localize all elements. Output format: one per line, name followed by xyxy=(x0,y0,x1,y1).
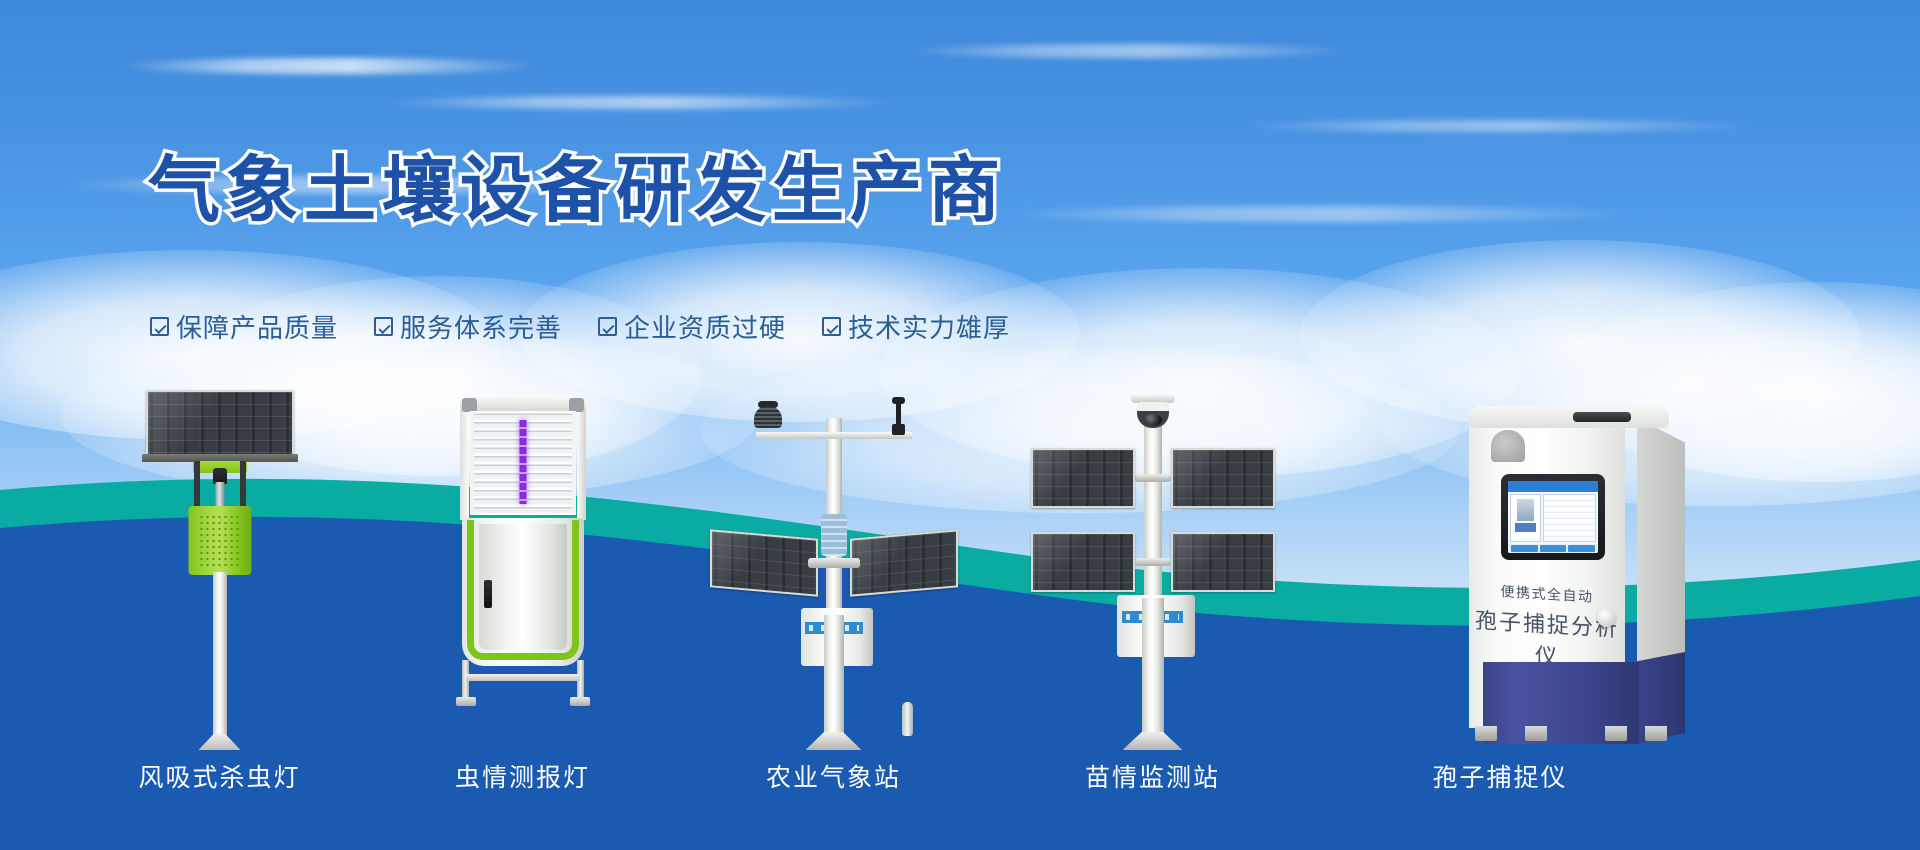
carry-handle[interactable] xyxy=(1573,412,1631,422)
panel-bracket xyxy=(1135,558,1171,566)
feature-item-3: 技术实力雄厚 xyxy=(822,308,1010,345)
checkbox-icon xyxy=(374,317,393,336)
anemometer-icon xyxy=(754,406,782,428)
mast-lower xyxy=(824,615,844,747)
pole-base xyxy=(199,734,241,750)
product-crop-growth-monitoring-station[interactable]: 苗情监测站 xyxy=(1025,390,1280,810)
lcd-content xyxy=(1508,492,1598,544)
checkbox-icon xyxy=(822,317,841,336)
product-label: 风吸式杀虫灯 xyxy=(138,750,300,810)
feature-label: 企业资质过硬 xyxy=(624,308,786,345)
product-spore-capture-instrument[interactable]: 便携式全自动 孢子捕捉分析仪 xyxy=(1290,390,1850,810)
feature-list: 保障产品质量 服务体系完善 企业资质过硬 技术实力雄厚 xyxy=(150,308,1010,345)
mast-upper xyxy=(1144,424,1162,600)
lamp-roof xyxy=(460,396,586,412)
feature-item-2: 企业资质过硬 xyxy=(598,308,786,345)
lcd-header-bar xyxy=(1508,481,1598,492)
solar-panel-icon xyxy=(146,390,294,456)
feature-label: 技术实力雄厚 xyxy=(848,308,1010,345)
checkbox-icon xyxy=(150,317,169,336)
cabinet-side-right xyxy=(577,408,586,520)
ptz-camera-icon xyxy=(1137,402,1169,428)
product-showcase: 风吸式杀虫灯 虫情测报灯 xyxy=(0,390,1920,810)
feature-item-0: 保障产品质量 xyxy=(150,308,338,345)
lcd-surface xyxy=(1508,481,1598,553)
mast-lower xyxy=(1142,598,1164,750)
insect-collection-box xyxy=(188,506,251,575)
panel-hub xyxy=(808,558,860,568)
cabinet-door xyxy=(479,524,567,650)
cabinet-side-left xyxy=(460,408,469,520)
feature-label: 保障产品质量 xyxy=(176,308,338,345)
product-image-crop-growth-monitoring-station xyxy=(1025,390,1280,750)
sensor-crossarm xyxy=(756,432,912,439)
product-image-spore-capture-instrument: 便携式全自动 孢子捕捉分析仪 xyxy=(1290,390,1850,750)
soil-probe-icon xyxy=(902,702,913,736)
product-image-pest-forecasting-lamp xyxy=(395,390,650,750)
product-image-wind-suction-insect-lamp xyxy=(92,390,347,750)
pole-base xyxy=(806,732,862,750)
hero-banner: 气象土壤设备研发生产商 气象土壤设备研发生产商 保障产品质量 服务体系完善 企业… xyxy=(0,0,1920,850)
spore-cabinet: 便携式全自动 孢子捕捉分析仪 xyxy=(1455,396,1685,744)
touchscreen-display[interactable] xyxy=(1501,474,1605,560)
checkbox-icon xyxy=(598,317,617,336)
solar-panel-icon xyxy=(850,529,958,596)
radiation-shield xyxy=(821,514,847,556)
lcd-button-row xyxy=(1508,544,1598,553)
feature-label: 服务体系完善 xyxy=(400,308,562,345)
cabinet-top xyxy=(1469,406,1669,428)
door-knob[interactable] xyxy=(1597,608,1616,627)
solar-panel-icon xyxy=(1171,532,1275,592)
product-wind-suction-insect-lamp[interactable]: 风吸式杀虫灯 xyxy=(92,390,347,810)
product-image-agricultural-weather-station xyxy=(706,390,961,750)
feature-item-1: 服务体系完善 xyxy=(374,308,562,345)
support-pole xyxy=(213,572,227,744)
product-label: 虫情测报灯 xyxy=(455,750,590,810)
product-pest-forecasting-lamp[interactable]: 虫情测报灯 xyxy=(395,390,650,810)
cabinet-feet xyxy=(1469,726,1669,744)
panel-bracket xyxy=(1135,474,1171,482)
cabinet-front-panel: 便携式全自动 孢子捕捉分析仪 xyxy=(1469,412,1625,728)
cabinet-body xyxy=(462,518,584,666)
solar-panel-icon xyxy=(1171,448,1275,508)
product-label: 孢子捕捉仪 xyxy=(1432,750,1567,810)
lcd-device-thumbnail xyxy=(1510,494,1541,542)
lamp-arm-left xyxy=(194,461,200,509)
product-label: 苗情监测站 xyxy=(1085,750,1220,810)
air-intake-vent xyxy=(1491,430,1525,462)
solar-panel-icon xyxy=(710,529,818,596)
solar-panel-icon xyxy=(1031,532,1135,592)
mesh-pattern xyxy=(198,514,241,567)
product-agricultural-weather-station[interactable]: 农业气象站 xyxy=(706,390,961,810)
pole-base xyxy=(1123,732,1183,750)
lamp-arm-right xyxy=(240,461,246,509)
leg-crossbar xyxy=(466,674,580,681)
page-title: 气象土壤设备研发生产商 xyxy=(148,152,1006,231)
door-lock-icon xyxy=(484,580,492,608)
uv-lamp-tube xyxy=(519,420,526,504)
product-label: 农业气象站 xyxy=(766,750,901,810)
solar-panel-icon xyxy=(1031,448,1135,508)
wind-vane-icon xyxy=(896,402,901,432)
cabinet-legs xyxy=(458,660,588,706)
lcd-parameter-table xyxy=(1543,494,1596,542)
